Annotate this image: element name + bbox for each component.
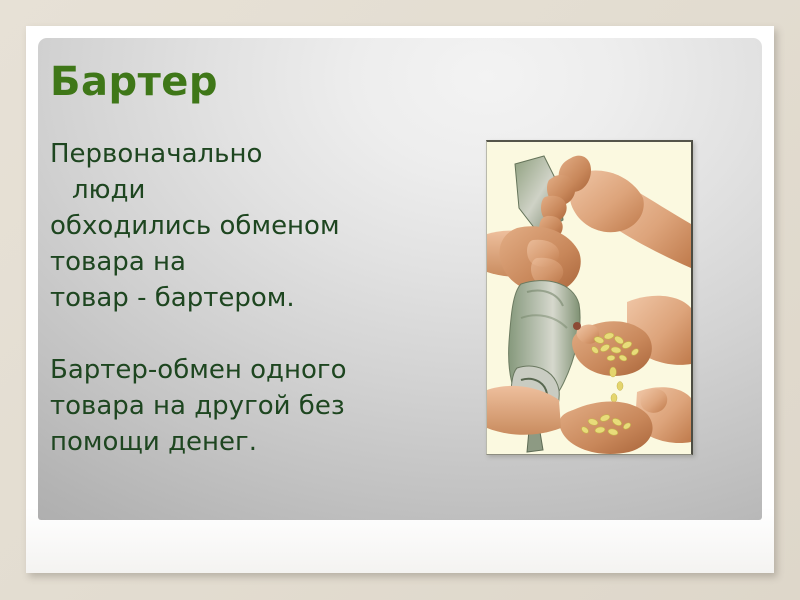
slide-stage: Бартер Первоначально люди обходились обм… (0, 0, 800, 600)
page-title: Бартер (50, 62, 218, 102)
body-line-3: обходились обменом (50, 208, 422, 244)
body-paragraph-spacer (50, 316, 422, 352)
slide-content-panel: Бартер Первоначально люди обходились обм… (38, 38, 762, 520)
slide-body-text: Первоначально люди обходились обменом то… (50, 136, 422, 460)
body-line-5: товар - бартером. (50, 280, 422, 316)
body-line-1: Первоначально (50, 136, 422, 172)
slide-card: Бартер Первоначально люди обходились обм… (26, 26, 774, 573)
body-line-6: Бартер-обмен одного (50, 352, 422, 388)
barter-illustration (486, 140, 693, 455)
body-line-8: помощи денег. (50, 424, 422, 460)
body-line-4: товара на (50, 244, 422, 280)
barter-illustration-graphic (487, 142, 691, 454)
body-line-2: люди (50, 172, 422, 208)
body-line-7: товара на другой без (50, 388, 422, 424)
